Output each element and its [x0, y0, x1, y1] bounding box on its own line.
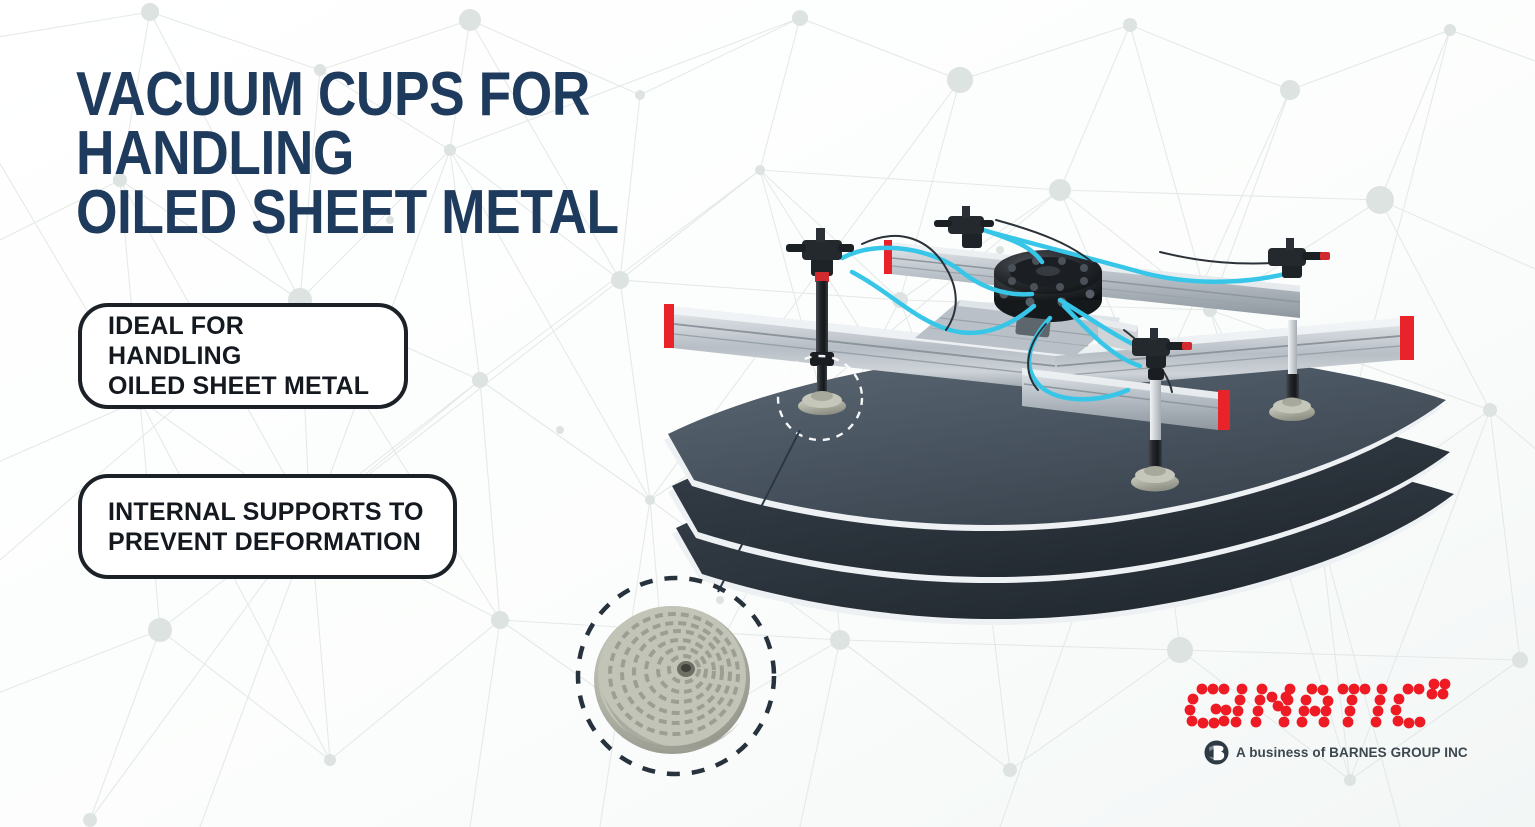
vacuum-cup-magnified: [594, 606, 750, 754]
brand-logo: A business of BARNES GROUP INC: [1178, 676, 1478, 776]
feature-callout-text: INTERNAL SUPPORTS TO PREVENT DEFORMATION: [108, 497, 424, 557]
feature-callout-internal-supports: INTERNAL SUPPORTS TO PREVENT DEFORMATION: [78, 474, 457, 579]
rail-end-cap-red: [1400, 316, 1414, 360]
vacuum-cup-arm-back-center: [934, 206, 994, 248]
rail-end-cap-red: [664, 304, 674, 348]
rail-end-cap-red: [884, 240, 892, 274]
gimatic-wordmark: [1178, 676, 1478, 738]
marketing-banner: VACUUM CUPS FOR HANDLING OILED SHEET MET…: [0, 0, 1535, 827]
vacuum-cup-detail-callout: [578, 578, 774, 774]
barnes-group-mark: [1204, 740, 1229, 765]
logo-tagline-row: A business of BARNES GROUP INC: [1204, 740, 1468, 765]
logo-tagline-text: A business of BARNES GROUP INC: [1236, 745, 1468, 760]
feature-callout-ideal-for-handling: IDEAL FOR HANDLING OILED SHEET METAL: [78, 303, 408, 409]
feature-callout-text: IDEAL FOR HANDLING OILED SHEET METAL: [108, 311, 382, 401]
page-title: VACUUM CUPS FOR HANDLING OILED SHEET MET…: [76, 66, 730, 243]
rail-end-cap-red: [1218, 390, 1230, 430]
